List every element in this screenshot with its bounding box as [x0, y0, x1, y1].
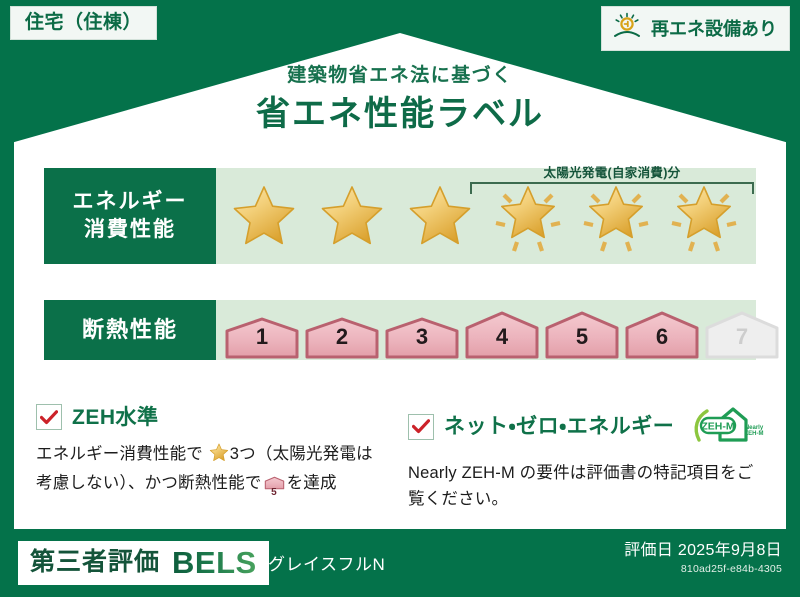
- inline-house-badge-num: 5: [264, 488, 285, 498]
- energy-rating-area: 太陽光発電(自家消費)分: [216, 168, 756, 264]
- zeh-standard-title: ZEH水準: [72, 407, 159, 428]
- net-zero-energy-checkbox[interactable]: [408, 414, 434, 440]
- evaluation-id: 810ad25f-e84b-4305: [624, 563, 782, 575]
- check-icon: [40, 410, 58, 425]
- insulation-level-5-num: 5: [542, 326, 622, 348]
- inline-star-icon: [204, 448, 229, 466]
- insulation-level-6-num: 6: [622, 326, 702, 348]
- solar-bracket-label: 太陽光発電(自家消費)分: [470, 162, 754, 181]
- energy-performance-label: エネルギー 消費性能: [44, 168, 216, 264]
- check-icon: [412, 419, 430, 434]
- building-name: グレイスフルN: [268, 556, 385, 573]
- inline-house-badge: 5: [264, 474, 285, 501]
- zeh-standard-text: エネルギー消費性能で 3つ（太陽光発電は考慮しない）、かつ断熱性能で 5を達成: [36, 442, 386, 500]
- zeh-standard-checkbox[interactable]: [36, 404, 62, 430]
- evaluation-info: 評価日 2025年9月8日 810ad25f-e84b-4305: [624, 541, 782, 575]
- renewable-energy-badge: 再エネ設備あり: [601, 6, 790, 51]
- bels-badge: 第三者評価 BELS: [18, 541, 269, 585]
- zeh-m-logo-text: ZEH-M: [702, 421, 735, 433]
- zeh-m-logo: ZEH-M Nearly ZEH-M: [690, 404, 764, 449]
- insulation-level-1: 1: [222, 316, 302, 360]
- net-zero-energy-title: ネット・ゼロ・エネルギー: [444, 416, 674, 437]
- footer: 第三者評価 BELS グレイスフルN 評価日 2025年9月8日 810ad25…: [0, 529, 800, 597]
- energy-performance-label: 住宅（住棟） 再エネ設備あり 建築物省エネ法に基づく 省エネ性能ラベル: [0, 0, 800, 597]
- zeh-text-end: を達成: [287, 474, 337, 492]
- star-1: [220, 168, 308, 264]
- insulation-level-7: 7: [702, 310, 782, 360]
- renewable-badge-label: 再エネ設備あり: [651, 20, 777, 38]
- bels-logo-text: BELS: [172, 547, 257, 578]
- evaluation-date: 評価日 2025年9月8日: [624, 541, 782, 560]
- criteria-zeh-standard: ZEH水準 エネルギー消費性能で 3つ（太陽光発電は考慮しない）、かつ断熱性能で…: [36, 404, 386, 500]
- star-2: [308, 168, 396, 264]
- energy-performance-row: エネルギー 消費性能 太陽光発電(自家消費)分: [44, 168, 756, 264]
- insulation-level-4-num: 4: [462, 326, 542, 348]
- category-chip: 住宅（住棟）: [10, 6, 157, 40]
- insulation-level-2-num: 2: [302, 326, 382, 348]
- criteria-left-head: ZEH水準: [36, 404, 386, 430]
- bels-jp-label: 第三者評価: [30, 550, 160, 575]
- title-block: 建築物省エネ法に基づく 省エネ性能ラベル: [0, 66, 800, 131]
- insulation-level-1-num: 1: [222, 326, 302, 348]
- insulation-level-2: 2: [302, 316, 382, 360]
- insulation-level-6: 6: [622, 310, 702, 360]
- insulation-performance-row: 断熱性能 1: [44, 300, 756, 360]
- insulation-performance-label: 断熱性能: [44, 300, 216, 360]
- insulation-rating-area: 1 2 3 4: [216, 300, 756, 360]
- insulation-level-4: 4: [462, 310, 542, 360]
- title-subtitle: 建築物省エネ法に基づく: [0, 66, 800, 85]
- criteria-right-head: ネット・ゼロ・エネルギー ZEH-M Nearly ZEH-M: [408, 404, 768, 449]
- energy-label-line2: 消費性能: [84, 216, 176, 244]
- insulation-level-5: 5: [542, 310, 622, 360]
- zeh-text-before-star: エネルギー消費性能で: [36, 445, 203, 463]
- title-main: 省エネ性能ラベル: [0, 97, 800, 131]
- solar-sun-icon: [612, 12, 642, 45]
- criteria-net-zero-energy: ネット・ゼロ・エネルギー ZEH-M Nearly ZEH-M Nearly Z…: [408, 404, 768, 512]
- solar-bracket: [470, 182, 754, 194]
- insulation-level-strip: 1 2 3 4: [222, 300, 756, 360]
- insulation-level-7-num: 7: [702, 326, 782, 348]
- insulation-level-3-num: 3: [382, 326, 462, 348]
- insulation-level-3: 3: [382, 316, 462, 360]
- energy-label-line1: エネルギー: [73, 188, 188, 216]
- zeh-m-logo-sub2: ZEH-M: [745, 431, 764, 437]
- net-zero-energy-text: Nearly ZEH-M の要件は評価書の特記項目をご覧ください。: [408, 461, 768, 512]
